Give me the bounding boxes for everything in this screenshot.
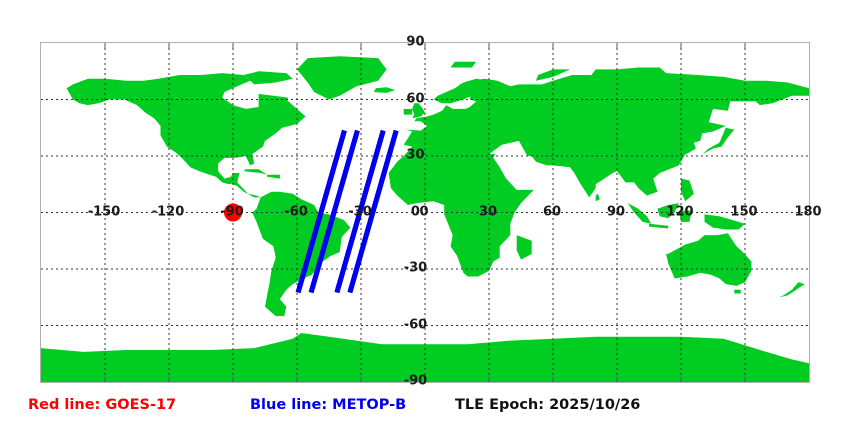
lon-label--90: -90 [220,205,244,218]
lon-label-120: 120 [666,205,693,218]
legend-footer: Red line: GOES-17 Blue line: METOP-B TLE… [0,392,850,425]
lat-label-90: 90 [406,36,424,49]
lon-label-180: 180 [794,205,821,218]
landmass-23 [517,235,532,260]
landmass-21 [681,179,694,202]
lat-label-30: 30 [406,149,424,162]
lat-label--60: -60 [404,318,428,331]
landmass-8 [244,71,293,84]
lon-label--60: -60 [284,205,308,218]
landmass-14 [734,290,740,294]
lon-label--120: -120 [152,205,185,218]
landmass-18 [628,203,651,224]
lon-label-30: 30 [479,205,497,218]
lon-label-60: 60 [543,205,561,218]
lat-label--30: -30 [404,262,428,275]
landmass-12 [267,175,280,179]
landmass-24 [596,194,600,202]
landmass-6 [297,56,387,99]
lon-label-0: 0 [419,205,428,218]
landmass-7 [374,87,395,93]
landmass-15 [779,282,805,297]
lon-label--150: -150 [88,205,121,218]
legend-blue-line: Blue line: METOP-B [250,398,406,413]
legend-red-line: Red line: GOES-17 [28,398,176,413]
landmass-19 [649,224,668,229]
lat-label-60: 60 [406,92,424,105]
landmass-11 [244,169,267,175]
landmass-4 [404,109,413,115]
lat-label--90: -90 [404,375,428,388]
landmass-26 [451,62,477,68]
legend-tle-epoch: TLE Epoch: 2025/10/26 [455,398,640,413]
landmass-13 [666,233,751,286]
lon-label-150: 150 [730,205,757,218]
lon-label-90: 90 [607,205,625,218]
landmass-5 [67,73,306,184]
lon-label--30: -30 [348,205,372,218]
